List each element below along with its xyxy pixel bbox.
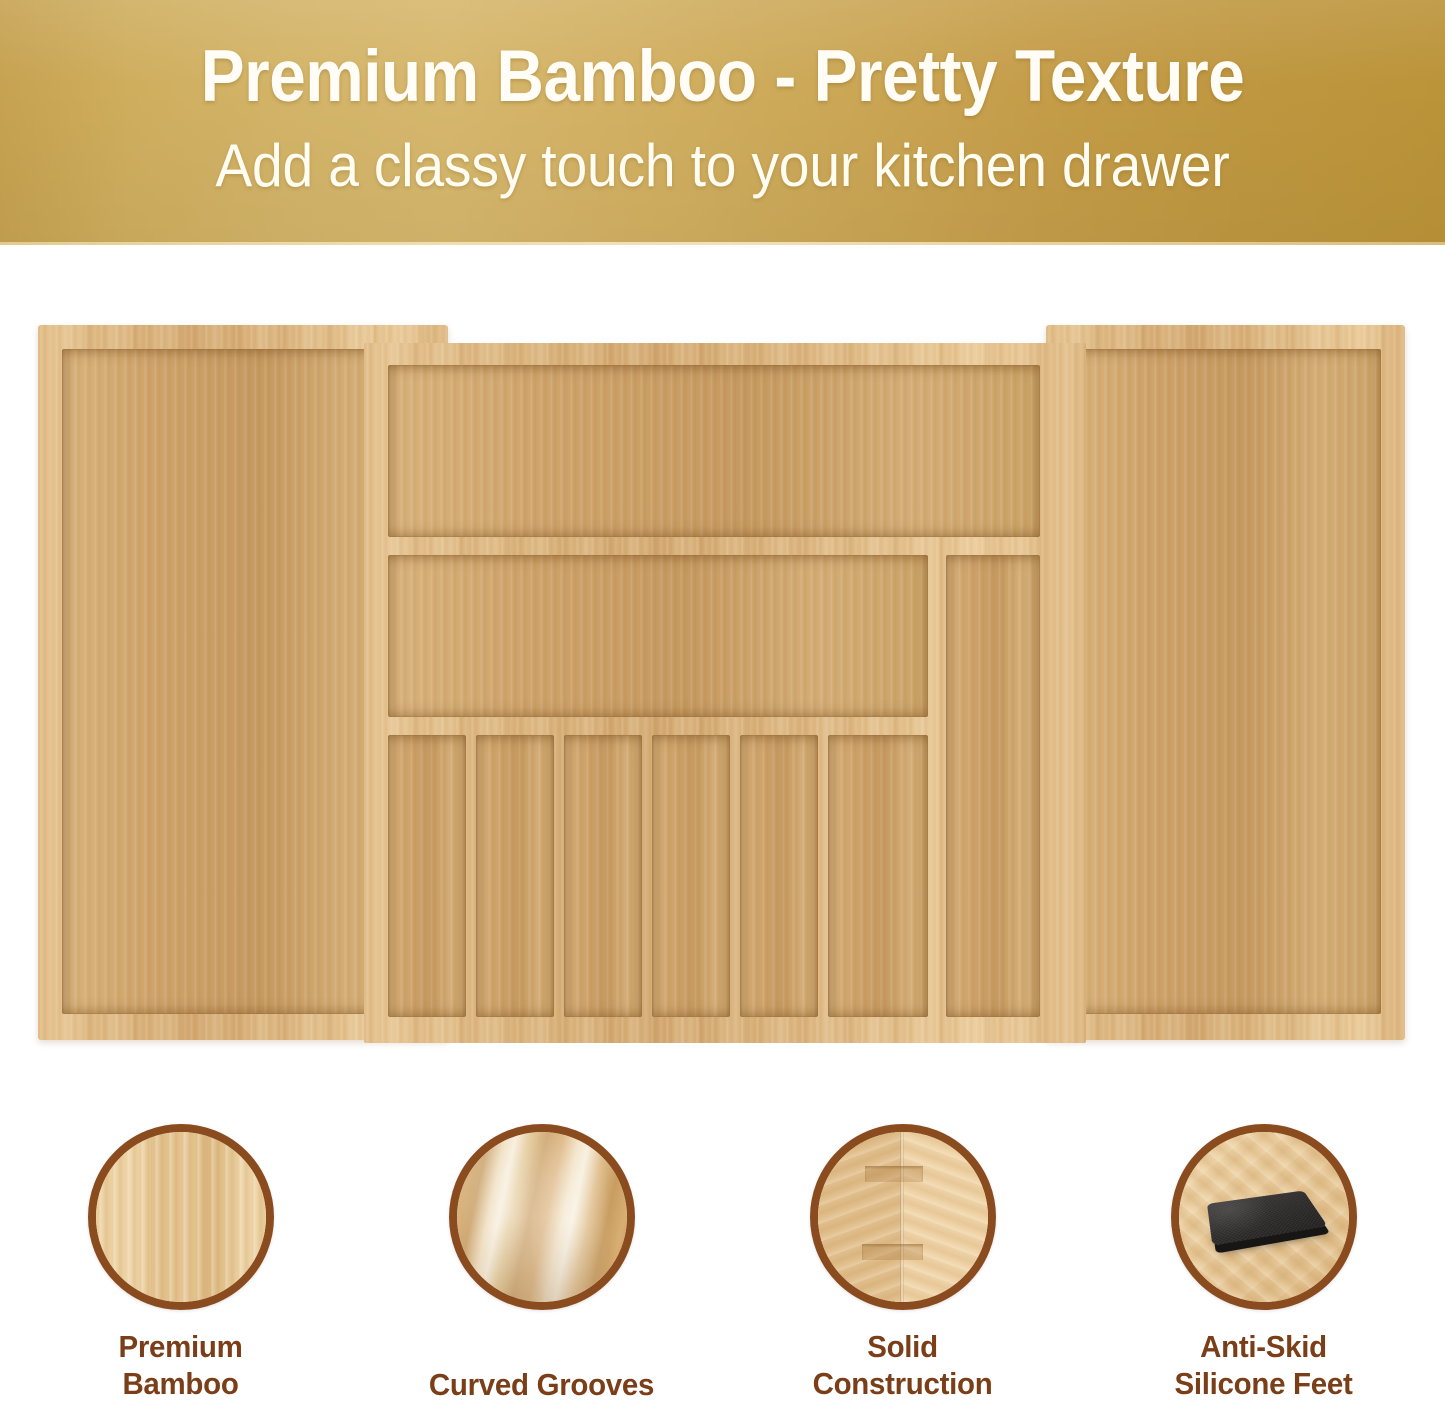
top-wide-compartment <box>388 365 1040 537</box>
cutlery-slot-3 <box>564 735 642 1017</box>
cutlery-slot-1 <box>388 735 466 1017</box>
cutlery-slot-2 <box>476 735 554 1017</box>
tall-right-compartment <box>946 555 1040 1017</box>
product-image <box>0 245 1445 1105</box>
right-large-compartment <box>1072 349 1381 1014</box>
feature-label-line1: Solid <box>731 1328 1074 1365</box>
feature-label-curved-grooves: Curved Grooves <box>370 1366 713 1403</box>
banner-title: Premium Bamboo - Pretty Texture <box>72 38 1373 116</box>
corner-joint-icon <box>810 1124 996 1310</box>
feature-label-line2: Silicone Feet <box>1092 1365 1435 1402</box>
curved-groove-icon <box>449 1124 635 1310</box>
feature-label-line1: Curved Grooves <box>370 1366 713 1403</box>
banner-subtitle: Add a classy touch to your kitchen drawe… <box>58 133 1387 199</box>
silicone-foot-pad <box>1206 1190 1327 1245</box>
silicone-foot-icon <box>1171 1124 1357 1310</box>
cutlery-slot-6 <box>828 735 928 1017</box>
cutlery-slot-5 <box>740 735 818 1017</box>
middle-wide-compartment <box>388 555 928 717</box>
feature-label-anti-skid-feet: Anti-Skid Silicone Feet <box>1092 1328 1435 1402</box>
feature-solid-construction: Solid Construction <box>722 1118 1083 1402</box>
feature-label-line1: Premium <box>9 1328 352 1365</box>
feature-premium-bamboo: Premium Bamboo <box>0 1118 361 1402</box>
right-wing-panel <box>1046 325 1405 1040</box>
feature-curved-grooves: Curved Grooves <box>361 1118 722 1403</box>
header-banner: Premium Bamboo - Pretty Texture Add a cl… <box>0 0 1445 245</box>
feature-label-line2: Construction <box>731 1365 1074 1402</box>
bamboo-drawer-organizer <box>38 325 1405 1040</box>
center-body-panel <box>364 343 1086 1043</box>
feature-label-premium-bamboo: Premium Bamboo <box>9 1328 352 1402</box>
cutlery-slot-4 <box>652 735 730 1017</box>
feature-row: Premium Bamboo Curved Grooves Solid Cons… <box>0 1118 1445 1409</box>
feature-label-line2: Bamboo <box>9 1365 352 1402</box>
feature-label-line1: Anti-Skid <box>1092 1328 1435 1365</box>
bamboo-plank-icon <box>88 1124 274 1310</box>
feature-anti-skid-feet: Anti-Skid Silicone Feet <box>1083 1118 1444 1402</box>
feature-label-solid-construction: Solid Construction <box>731 1328 1074 1402</box>
